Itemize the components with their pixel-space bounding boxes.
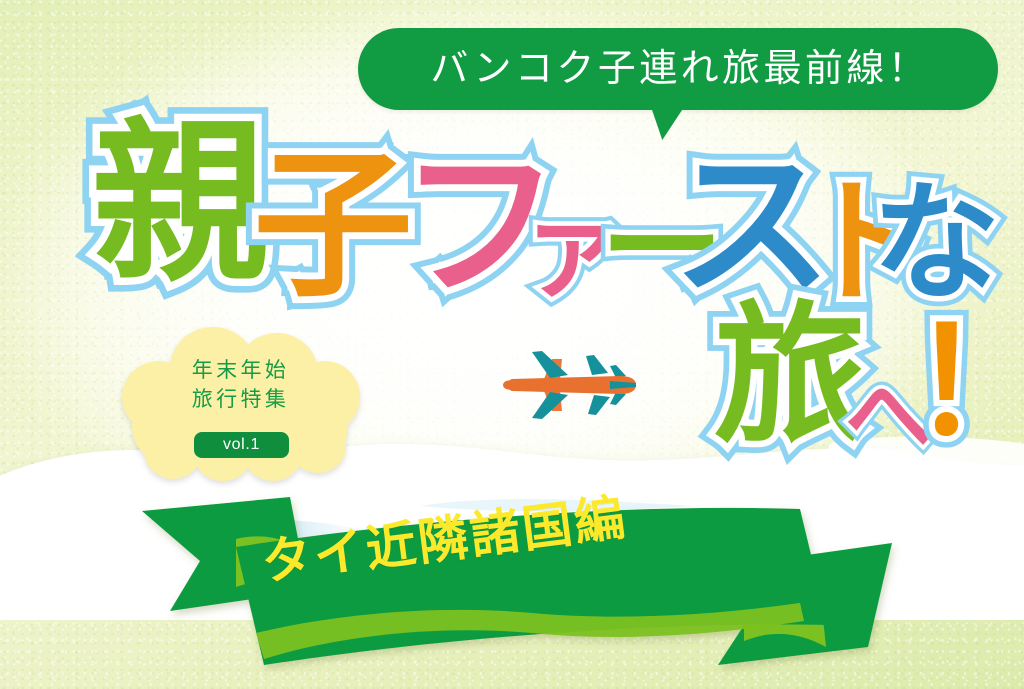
cloud-badge-line2: 旅行特集 xyxy=(118,386,363,415)
title-char-8: 旅旅旅 xyxy=(714,300,866,452)
cloud-badge-line1: 年末年始 xyxy=(118,357,363,386)
title-char-7: ななな xyxy=(872,180,1000,308)
title-char-10: ！！！ xyxy=(910,310,1024,456)
title-char-1: 子子子 xyxy=(253,146,413,306)
volume-pill-text: vol.1 xyxy=(223,437,260,453)
title-char-0: 親親親 xyxy=(92,116,268,292)
cloud-badge-label: 年末年始 旅行特集 xyxy=(118,357,363,414)
title-char-fill: 旅 xyxy=(714,287,866,464)
airplane-icon xyxy=(498,345,648,425)
title-char-fill: な xyxy=(872,169,1000,318)
speech-bubble: バンコク子連れ旅最前線！ xyxy=(358,28,998,110)
title-char-fill: ！ xyxy=(910,298,1024,468)
speech-bubble-text: バンコク子連れ旅最前線！ xyxy=(427,50,929,88)
cloud-badge: 年末年始 旅行特集 vol.1 xyxy=(118,327,363,482)
title-char-fill: 親 xyxy=(92,101,268,306)
poster-canvas: バンコク子連れ旅最前線！ 親親親子子子フフファァァーーーススストトトななな旅旅旅… xyxy=(0,0,1024,689)
title-char-fill: 子 xyxy=(253,132,413,319)
volume-pill: vol.1 xyxy=(194,432,289,458)
